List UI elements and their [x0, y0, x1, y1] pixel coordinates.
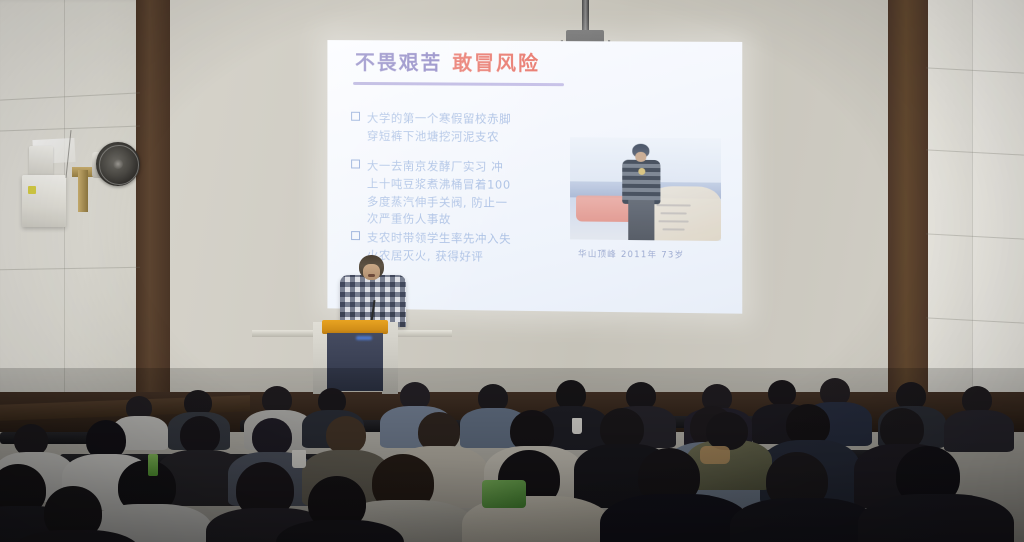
- electrical-box: [22, 175, 66, 227]
- bullet-3-line-2: 火农居灭火, 获得好评: [367, 247, 610, 268]
- slide-photo-caption: 华山顶峰 2011年 73岁: [578, 247, 684, 260]
- podium-screen-glow: [356, 336, 372, 340]
- speaker-face: [363, 264, 380, 280]
- bullet-1-line-1: 大学的第一个寒假留校赤脚: [367, 110, 600, 129]
- speaker-mouth: [368, 274, 375, 277]
- paper-cup: [292, 450, 306, 468]
- photo-person-body: [622, 160, 660, 204]
- right-brown-column: [888, 0, 928, 400]
- left-brown-column: [136, 0, 170, 395]
- bullet-2-line-3: 多度蒸汽伸手关阀, 防止一: [367, 193, 600, 213]
- slide-photo: [570, 137, 721, 241]
- fan-bracket-arm: [78, 170, 88, 212]
- slide-title: 不畏艰苦敢冒风险: [355, 52, 540, 73]
- slide-title-underline: [353, 82, 564, 86]
- green-bottle: [148, 454, 158, 476]
- bullet-2-line-2: 上十吨豆浆煮沸桶冒着100: [367, 175, 600, 195]
- photo-medal-icon: [638, 168, 645, 175]
- bullet-square-icon: [351, 159, 360, 168]
- electrical-box-upper: [29, 146, 53, 176]
- fan-hub-center: [113, 159, 123, 169]
- slide-title-part1: 不畏艰苦: [355, 50, 442, 74]
- bullet-2-line-4: 次严重伤人事故: [367, 211, 600, 231]
- warning-label-icon: [28, 186, 36, 194]
- wall-seam: [972, 0, 973, 430]
- bullet-square-icon: [351, 112, 360, 121]
- paper-cup: [572, 418, 582, 434]
- slide-bullet-2: 大一去南京发酵厂实习 冲 上十吨豆浆煮沸桶冒着100 多度蒸汽伸手关阀, 防止一…: [351, 158, 600, 231]
- audience-area: [0, 368, 1024, 542]
- projected-slide: 不畏艰苦敢冒风险 大学的第一个寒假留校赤脚 穿短裤下池塘挖河泥支农 大一去南京发…: [327, 40, 742, 314]
- green-bag: [482, 480, 526, 508]
- bullet-1-line-2: 穿短裤下池塘挖河泥支农: [367, 128, 600, 148]
- lecture-hall-screenshot: 不畏艰苦敢冒风险 大学的第一个寒假留校赤脚 穿短裤下池塘挖河泥支农 大一去南京发…: [0, 0, 1024, 542]
- bullet-2-line-1: 大一去南京发酵厂实习 冲: [367, 158, 600, 178]
- photo-person-legs: [628, 200, 654, 240]
- left-wall-panel: [0, 0, 140, 430]
- podium-top-surface: [322, 320, 388, 334]
- slide-bullet-1: 大学的第一个寒假留校赤脚 穿短裤下池塘挖河泥支农: [351, 110, 600, 147]
- bullet-square-icon: [351, 231, 360, 240]
- slide-title-part2: 敢冒风险: [452, 51, 540, 75]
- far-right-wall-panel: [972, 0, 1024, 430]
- photo-person-face: [635, 152, 646, 162]
